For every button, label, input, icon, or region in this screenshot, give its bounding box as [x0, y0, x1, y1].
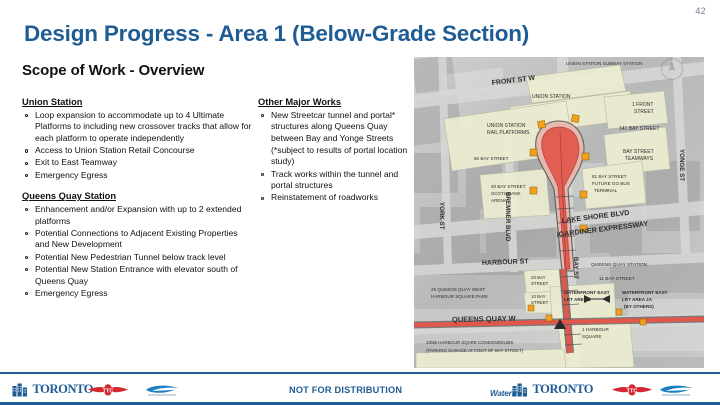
map-label: 20 BAY — [531, 275, 546, 280]
map-label: FUTURE GO BUS — [592, 181, 630, 186]
map-label: 60 BAY STREET — [474, 156, 509, 161]
map-label: UNION STATION — [487, 123, 526, 129]
map-label: 33/55 HARBOUR SQARE CONDOMINIUMS — [426, 340, 513, 345]
map-label: TERMINAL — [594, 188, 618, 193]
group-union-station: Union Station Loop expansion to accommod… — [22, 96, 254, 181]
toronto-wordmark: TORONTO — [32, 382, 93, 397]
group-other-major-works: Other Major Works New Streetcar tunnel a… — [258, 96, 408, 204]
ttc-logo-left: TTC — [88, 383, 128, 402]
map-label: 25 QUEENS QUAY WEST — [431, 287, 485, 292]
map-label: 1 FRONT — [632, 102, 653, 108]
list-item: Reinstatement of roadworks — [258, 192, 408, 204]
map-label: LRT AREA 1 — [564, 297, 591, 302]
map-label: WATERFRONT EAST — [622, 290, 668, 295]
toronto-crest-icon — [512, 382, 528, 397]
wave-icon — [144, 383, 182, 397]
map-label: STREET — [531, 300, 549, 305]
bullet-list: Enhancement and/or Expansion with up to … — [22, 204, 254, 300]
list-item: New Streetcar tunnel and portal* structu… — [258, 110, 408, 168]
page-title: Design Progress - Area 1 (Below-Grade Se… — [24, 21, 529, 47]
page-number: 42 — [695, 6, 706, 16]
map-label: UNION STATION SUBWAY STATION — [566, 61, 642, 66]
list-item: Potential New Pedestrian Tunnel below tr… — [22, 252, 254, 264]
map-label: YONGE ST — [678, 149, 685, 181]
map-label: (BY OTHERS) — [624, 304, 654, 309]
map-label: BAY STREET — [623, 149, 654, 155]
map-label: QUEENS QUAY W — [452, 314, 517, 324]
section-heading: Scope of Work - Overview — [22, 62, 204, 79]
list-item: Access to Union Station Retail Concourse — [22, 145, 254, 157]
ttc-wings-icon: TTC — [612, 383, 652, 397]
list-item: Exit to East Teamway — [22, 157, 254, 169]
map-label: RAIL PLATFORMS — [487, 130, 530, 136]
ttc-wings-icon: TTC — [88, 383, 128, 397]
group-heading: Union Station — [22, 96, 254, 109]
ttc-logo-right: TTC — [612, 383, 652, 402]
map-label: QUEENS QUAY STATION — [591, 262, 648, 268]
group-queens-quay-station: Queens Quay Station Enhancement and/or E… — [22, 190, 254, 299]
map-label: 1 HARBOUR — [582, 327, 609, 332]
metrolinx-logo-left — [144, 383, 182, 402]
map-label: (PARKING GARAGE AT FOOT OF BAY STREET) — [426, 348, 524, 353]
list-item: Track works within the tunnel and portal… — [258, 169, 408, 192]
map-label: BREMNER BLVD — [504, 192, 511, 242]
list-item: Potential Connections to Adjacent Existi… — [22, 228, 254, 251]
slide-canvas: 42 Design Progress - Area 1 (Below-Grade… — [0, 0, 720, 405]
list-item: Emergency Egress — [22, 288, 254, 300]
list-item: Potential New Station Entrance with elev… — [22, 264, 254, 287]
svg-text:TTC: TTC — [103, 388, 114, 394]
map-label: 141 BAY STREET — [619, 126, 659, 132]
map-label: BAY ST — [572, 257, 579, 279]
city-of-toronto-logo-left: TORONTO — [12, 381, 93, 399]
distribution-notice: NOT FOR DISTRIBUTION — [289, 385, 402, 395]
city-of-toronto-logo-right: TORONTO — [512, 381, 593, 399]
map-label: SQUARE — [582, 334, 601, 339]
toronto-crest-icon — [12, 382, 28, 397]
wave-icon — [658, 383, 696, 397]
map-label: STREET — [634, 109, 654, 115]
list-item: Enhancement and/or Expansion with up to … — [22, 204, 254, 227]
list-item: Emergency Egress — [22, 170, 254, 182]
map-label: YORK ST — [438, 202, 445, 230]
map-label: 11 BAY STREET — [599, 276, 635, 282]
map-label: UNION STATION — [532, 94, 571, 100]
map-label: 81 BAY STREET — [592, 174, 627, 179]
group-heading: Other Major Works — [258, 96, 408, 109]
bullet-list: New Streetcar tunnel and portal* structu… — [258, 110, 408, 205]
map-label: HARBOUR SQUARE PARK — [431, 294, 489, 299]
group-heading: Queens Quay Station — [22, 190, 254, 203]
map-label: 40 BAY STREET — [491, 184, 526, 189]
map-label: LRT AREA 2A — [622, 297, 653, 302]
scope-right-column: Other Major Works New Streetcar tunnel a… — [258, 96, 408, 210]
toronto-wordmark: TORONTO — [532, 382, 593, 397]
metrolinx-logo-right — [658, 383, 696, 402]
list-item: Loop expansion to accommodate up to 4 Ul… — [22, 110, 254, 145]
map-graphic: UNION STATION SUBWAY STATIONFRONT ST WUN… — [414, 57, 704, 368]
area-1-alignment-map[interactable]: UNION STATION SUBWAY STATIONFRONT ST WUN… — [414, 57, 704, 368]
svg-text:TTC: TTC — [627, 388, 638, 394]
map-label: WATERFRONT EAST — [564, 290, 610, 295]
map-label: 10 BAY — [531, 294, 546, 299]
map-label: TEAMWAYS — [625, 156, 654, 162]
scope-left-column: Union Station Loop expansion to accommod… — [22, 96, 254, 305]
map-label: STREET — [531, 281, 549, 286]
bullet-list: Loop expansion to accommodate up to 4 Ul… — [22, 110, 254, 182]
